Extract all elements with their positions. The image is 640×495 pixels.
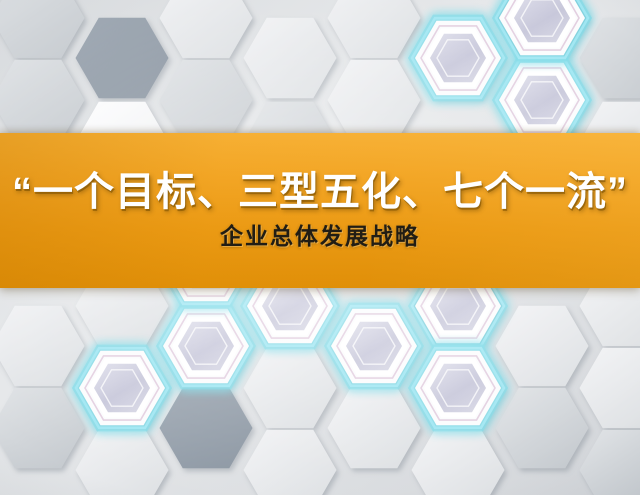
slide-subtitle: 企业总体发展战略 [220, 224, 420, 249]
glowing-hexagon-tile [496, 60, 588, 140]
slide-canvas: “一个目标、三型五化、七个一流” 企业总体发展战略 [0, 0, 640, 495]
glowing-hexagon-tile [412, 348, 504, 428]
glowing-hexagon-tile [328, 306, 420, 386]
glowing-hexagon-tile [160, 306, 252, 386]
title-banner: “一个目标、三型五化、七个一流” 企业总体发展战略 [0, 133, 640, 288]
slide-title: “一个目标、三型五化、七个一流” [12, 171, 628, 224]
glowing-hexagon-tile [76, 348, 168, 428]
glowing-hexagon-tile [412, 18, 504, 98]
